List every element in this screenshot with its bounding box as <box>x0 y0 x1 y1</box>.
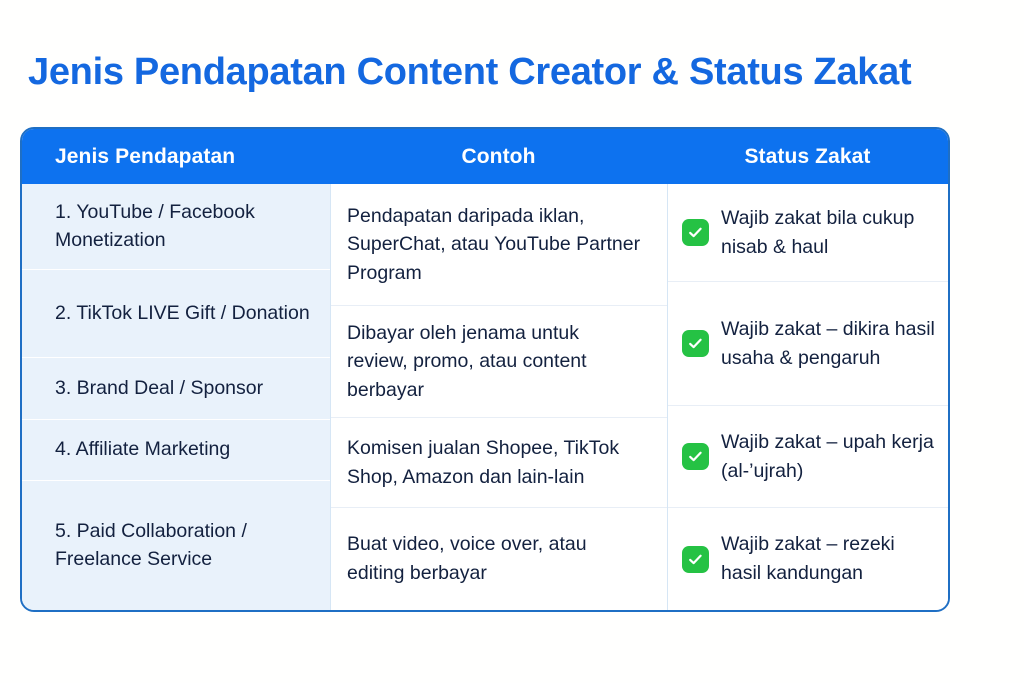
status-text: Wajib zakat – rezeki hasil kandungan <box>721 530 936 587</box>
green-check-icon <box>682 546 709 573</box>
example-item: Dibayar oleh jenama untuk review, promo,… <box>331 306 667 418</box>
status-row: Wajib zakat bila cukup nisab & haul <box>668 184 948 282</box>
infographic-page: Jenis Pendapatan Content Creator & Statu… <box>0 0 1024 683</box>
green-check-icon <box>682 330 709 357</box>
zakat-table: Jenis Pendapatan Contoh Status Zakat 1. … <box>20 127 950 612</box>
status-row: Wajib zakat – rezeki hasil kandungan <box>668 508 948 610</box>
column-header-contoh: Contoh <box>330 129 667 184</box>
status-row: Wajib zakat – upah kerja (al-’ujrah) <box>668 406 948 508</box>
status-text: Wajib zakat – upah kerja (al-’ujrah) <box>721 428 936 485</box>
example-item: Buat video, voice over, atau editing ber… <box>331 508 667 610</box>
income-type-item: 5. Paid Collaboration / Freelance Servic… <box>22 481 330 610</box>
column-status-zakat: Wajib zakat bila cukup nisab & haul Waji… <box>667 184 948 610</box>
column-header-status-zakat: Status Zakat <box>667 129 948 184</box>
income-type-item: 2. TikTok LIVE Gift / Donation <box>22 270 330 358</box>
page-title: Jenis Pendapatan Content Creator & Statu… <box>28 52 988 94</box>
status-row: Wajib zakat – dikira hasil usaha & penga… <box>668 282 948 406</box>
column-contoh: Pendapatan daripada iklan, SuperChat, at… <box>330 184 667 610</box>
income-type-item: 3. Brand Deal / Sponsor <box>22 358 330 420</box>
income-type-item: 1. YouTube / Facebook Monetization <box>22 184 330 270</box>
column-header-jenis-pendapatan: Jenis Pendapatan <box>22 129 330 184</box>
column-jenis-pendapatan: 1. YouTube / Facebook Monetization 2. Ti… <box>22 184 330 610</box>
example-item: Pendapatan daripada iklan, SuperChat, at… <box>331 184 667 306</box>
status-text: Wajib zakat bila cukup nisab & haul <box>721 204 936 261</box>
table-header-row: Jenis Pendapatan Contoh Status Zakat <box>22 129 948 184</box>
income-type-item: 4. Affiliate Marketing <box>22 420 330 481</box>
table-body: 1. YouTube / Facebook Monetization 2. Ti… <box>22 184 948 610</box>
status-text: Wajib zakat – dikira hasil usaha & penga… <box>721 315 936 372</box>
green-check-icon <box>682 443 709 470</box>
green-check-icon <box>682 219 709 246</box>
example-item: Komisen jualan Shopee, TikTok Shop, Amaz… <box>331 418 667 508</box>
